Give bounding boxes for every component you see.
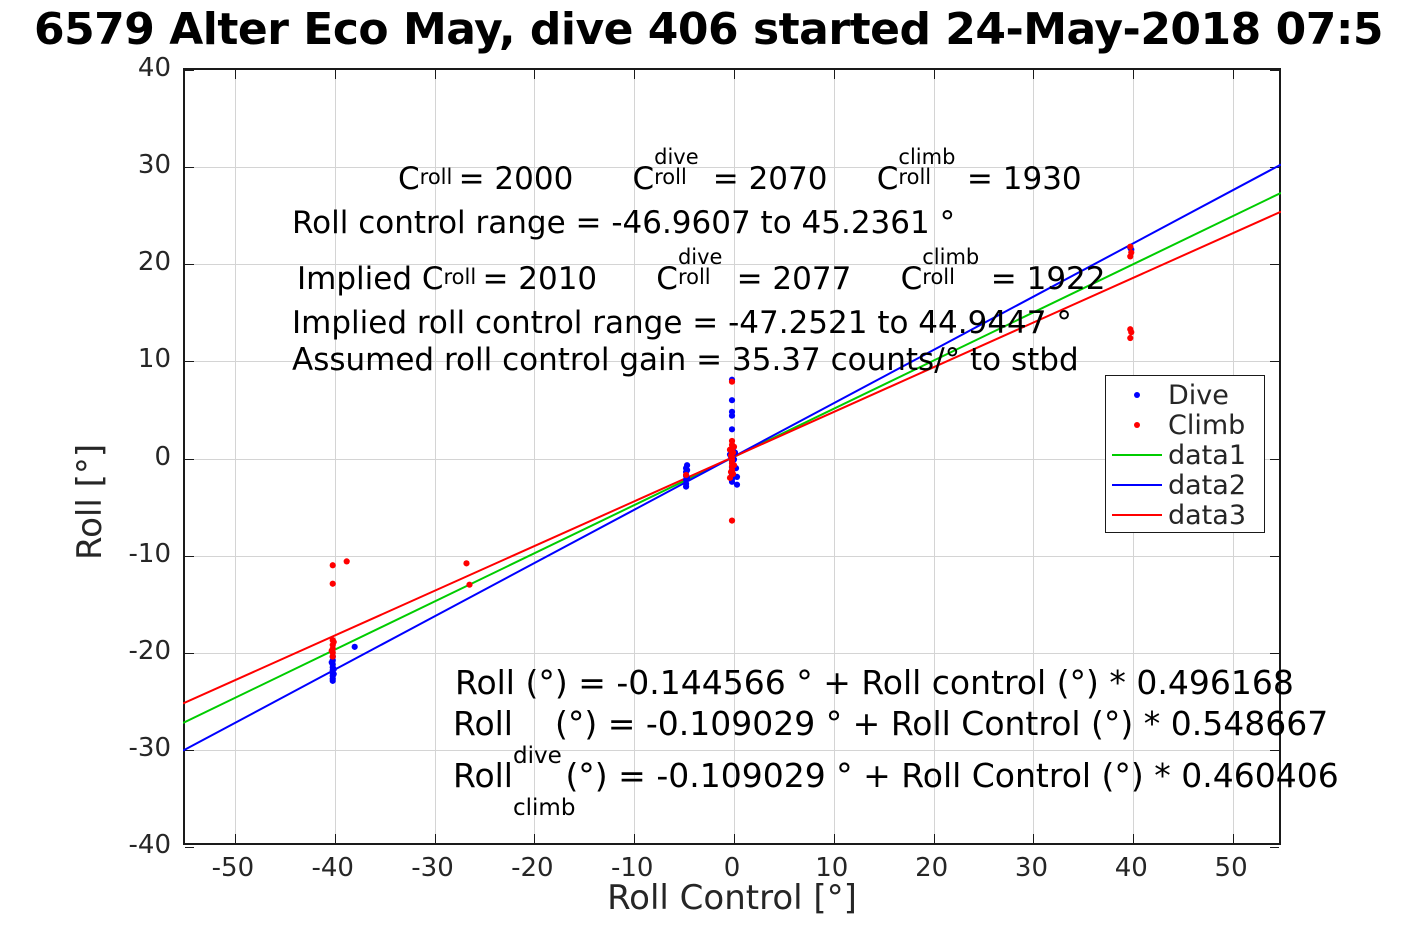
data-point-dive [734, 482, 740, 488]
c-roll-dive-symbol: C [632, 161, 654, 197]
legend-label: data2 [1168, 472, 1246, 499]
data-point-climb [731, 462, 737, 468]
legend-label: Climb [1168, 412, 1245, 439]
data-point-climb [1127, 335, 1133, 341]
y-tick-label: 10 [0, 344, 171, 374]
y-tick-label: -30 [0, 733, 171, 763]
c-roll-dive-affix: diveroll [654, 158, 673, 189]
y-tick-label: 30 [0, 150, 171, 180]
annotation-line-3: Implied Croll = 2010 Cdiveroll = 2077 Cc… [297, 258, 1106, 295]
data-point-dive [329, 659, 335, 665]
y-tick-label: -40 [0, 830, 171, 860]
data-point-climb [728, 469, 734, 475]
data-point-climb [463, 560, 469, 566]
data-point-climb [344, 558, 350, 564]
data-point-climb [729, 379, 735, 385]
legend-swatch [1134, 392, 1140, 398]
data-point-climb [466, 582, 472, 588]
legend-item-climb[interactable]: Climb [1106, 410, 1266, 440]
data-point-climb [1128, 329, 1134, 335]
x-axis-label: Roll Control [°] [183, 878, 1281, 918]
data-point-climb [729, 518, 735, 524]
data-point-dive [684, 462, 690, 468]
implied-c-roll-dive-affix: diveroll [678, 258, 697, 289]
legend-marker-dot-icon [1106, 392, 1168, 398]
data-point-dive [352, 644, 358, 650]
data-point-climb [727, 447, 733, 453]
implied-c-roll-dive-symbol: C [656, 261, 678, 297]
data-point-dive [331, 671, 337, 677]
annotation-roll-control-range: Roll control range = -46.9607 to 45.2361… [292, 208, 955, 239]
data-point-climb [331, 639, 337, 645]
legend-item-dive[interactable]: Dive [1106, 380, 1266, 410]
data-point-dive [729, 397, 735, 403]
implied-c-roll-prefix: Implied C [297, 261, 444, 297]
legend-item-data1[interactable]: data1 [1106, 440, 1266, 470]
equation-roll-climb-rest: (°) = -0.109029 ° + Roll Control (°) * 0… [565, 756, 1338, 795]
implied-c-roll-climb-value: = 1922 [991, 261, 1106, 297]
annotation-implied-roll-control-range: Implied roll control range = -47.2521 to… [292, 308, 1072, 339]
data-point-climb [330, 581, 336, 587]
legend-swatch [1112, 514, 1162, 516]
equation-roll-climb: Rollclimb (°) = -0.109029 ° + Roll Contr… [453, 759, 1339, 792]
data-point-climb [329, 648, 335, 654]
legend-marker-dot-icon [1106, 422, 1168, 428]
c-roll-value: = 2000 [459, 161, 574, 197]
c-roll-climb-value: = 1930 [967, 161, 1082, 197]
c-roll-climb-symbol: C [877, 161, 899, 197]
implied-c-roll-dive-value: = 2077 [737, 261, 852, 297]
y-tick-label: 20 [0, 247, 171, 277]
annotation-line-1: Croll = 2000 Cdiveroll = 2070 Cclimbroll… [398, 158, 1082, 195]
equation-roll-dive-head: Roll [453, 704, 513, 743]
equation-roll-all: Roll (°) = -0.144566 ° + Roll control (°… [455, 666, 1294, 699]
legend-label: data3 [1168, 502, 1246, 529]
figure-canvas: 6579 Alter Eco May, dive 406 started 24-… [0, 0, 1417, 945]
data-point-climb [330, 562, 336, 568]
annotation-assumed-roll-control-gain: Assumed roll control gain = 35.37 counts… [292, 345, 1079, 376]
legend-marker-line-icon [1106, 454, 1168, 456]
data-point-climb [330, 653, 336, 659]
legend-item-data2[interactable]: data2 [1106, 470, 1266, 500]
implied-c-roll-climb-affix: climbroll [922, 258, 941, 289]
legend-swatch [1112, 484, 1162, 486]
c-roll-symbol: C [398, 161, 420, 197]
legend-marker-line-icon [1106, 514, 1168, 516]
y-axis-label: Roll [°] [70, 444, 110, 560]
data-point-dive [683, 484, 689, 490]
data-point-climb [1127, 244, 1133, 250]
data-point-climb [1127, 253, 1133, 259]
data-point-climb [683, 472, 689, 478]
legend-label: Dive [1168, 382, 1229, 409]
legend-label: data1 [1168, 442, 1246, 469]
y-tick-label: 40 [0, 53, 171, 83]
y-tick-label: -20 [0, 636, 171, 666]
implied-c-roll-value: = 2010 [482, 261, 597, 297]
implied-c-roll-subscript: roll [444, 258, 463, 289]
equation-roll-climb-head: Roll [453, 756, 513, 795]
implied-c-roll-climb-symbol: C [901, 261, 923, 297]
data-point-climb [727, 475, 733, 481]
c-roll-dive-value: = 2070 [713, 161, 828, 197]
data-point-dive [729, 413, 735, 419]
c-roll-subscript: roll [420, 158, 439, 189]
data-point-dive [729, 426, 735, 432]
data-point-dive [330, 678, 336, 684]
legend-swatch [1134, 422, 1140, 428]
legend-box: DiveClimbdata1data2data3 [1105, 375, 1265, 533]
legend-item-data3[interactable]: data3 [1106, 500, 1266, 530]
c-roll-climb-affix: climbroll [898, 158, 917, 189]
equation-roll-dive: Rolldive (°) = -0.109029 ° + Roll Contro… [453, 707, 1328, 740]
equation-roll-dive-rest: (°) = -0.109029 ° + Roll Control (°) * 0… [555, 704, 1328, 743]
legend-marker-line-icon [1106, 484, 1168, 486]
legend-swatch [1112, 454, 1162, 456]
